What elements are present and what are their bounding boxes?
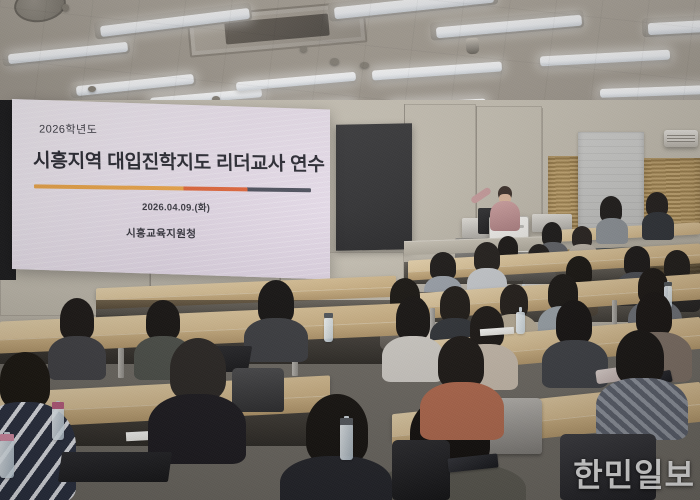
presenter [484, 186, 532, 234]
desk-leg [118, 348, 124, 378]
ceiling-light [648, 17, 700, 35]
sprinkler-head [360, 62, 369, 68]
projection-screen: 2026학년도 시흥지역 대입진학지도 리더교사 연수 2026.04.09.(… [12, 99, 330, 280]
water-bottle [340, 424, 353, 460]
light-frame [70, 69, 197, 98]
light-frame [430, 9, 585, 40]
ceiling-light [100, 8, 250, 37]
slide-accent-bar [34, 185, 311, 193]
ceiling-camera [465, 38, 479, 55]
ceiling-speaker [12, 0, 68, 25]
ceiling [0, 0, 700, 112]
bottle-cap [324, 313, 333, 318]
bottle-cap [664, 282, 672, 286]
ceiling-light [436, 15, 582, 39]
water-bottle [0, 440, 14, 478]
light-frame [93, 2, 252, 39]
ceiling-light [334, 0, 494, 19]
slide-title: 시흥지역 대입진학지도 리더교사 연수 [32, 146, 324, 177]
sprinkler-head [330, 58, 339, 65]
ceiling-light [236, 72, 356, 91]
ceiling-light [540, 50, 670, 67]
laptop [58, 452, 172, 482]
light-frame [327, 0, 498, 22]
slide-organization: 시흥교육지원청 [126, 226, 197, 242]
ceiling-light [76, 74, 194, 96]
slide-year-label: 2026학년도 [39, 121, 98, 138]
bottle-cap [340, 418, 353, 425]
ceiling-ac-vent [187, 0, 368, 57]
lecture-hall-photo: 2026학년도 시흥지역 대입진학지도 리더교사 연수 2026.04.09.(… [0, 0, 700, 500]
bag [392, 440, 450, 500]
water-bottle [52, 408, 64, 440]
water-bottle [516, 312, 525, 334]
dark-wall-board [336, 123, 412, 251]
chair-back [232, 368, 284, 412]
sprinkler-head [62, 4, 69, 11]
ceiling-light [8, 42, 128, 64]
bottle-cap [0, 434, 14, 441]
light-frame [2, 37, 131, 66]
light-frame [642, 12, 700, 38]
bottle-cap [52, 402, 64, 409]
watermark-logo: 한민일보 [573, 459, 695, 491]
sprinkler-head [88, 86, 96, 92]
ceiling-light [600, 85, 700, 98]
wall-ac-unit [664, 130, 698, 147]
presenter-torso [490, 201, 520, 231]
ceiling-light [372, 61, 502, 80]
sprinkler-head [300, 46, 307, 52]
slide-date: 2026.04.09.(화) [142, 199, 210, 214]
slide-content: 2026학년도 시흥지역 대입진학지도 리더교사 연수 2026.04.09.(… [12, 99, 330, 280]
water-bottle [324, 318, 333, 342]
